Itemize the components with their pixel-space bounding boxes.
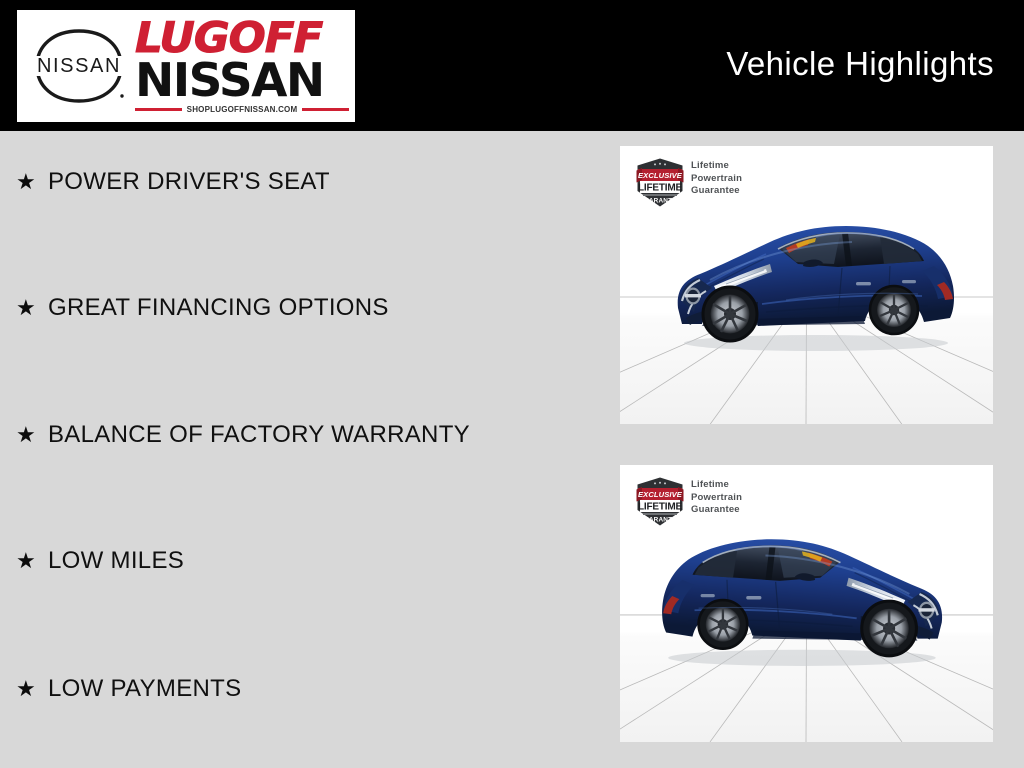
vehicle-photo-1[interactable]: EXCLUSIVELIFETIMEGUARANTEELifetimePowert… <box>620 146 993 424</box>
vehicle-photo-2[interactable]: EXCLUSIVELIFETIMEGUARANTEELifetimePowert… <box>620 465 993 742</box>
star-bullet-icon: ★ <box>16 550 38 572</box>
rule-right <box>302 108 349 111</box>
highlight-item: ★LOW PAYMENTS <box>16 672 241 706</box>
highlight-item: ★GREAT FINANCING OPTIONS <box>16 291 389 325</box>
svg-text:EXCLUSIVE: EXCLUSIVE <box>638 171 683 180</box>
highlight-item: ★POWER DRIVER'S SEAT <box>16 165 330 199</box>
lifetime-powertrain-guarantee-badge: EXCLUSIVELIFETIMEGUARANTEELifetimePowert… <box>636 158 742 207</box>
vehicle-highlights-list: ★POWER DRIVER'S SEAT★GREAT FINANCING OPT… <box>0 131 600 768</box>
star-bullet-icon: ★ <box>16 171 38 193</box>
badge-caption-line: Powertrain <box>691 173 742 186</box>
highlight-item-label: BALANCE OF FACTORY WARRANTY <box>48 421 470 449</box>
badge-caption: LifetimePowertrainGuarantee <box>691 158 742 198</box>
vehicle-image <box>666 204 958 354</box>
svg-text:LIFETIME: LIFETIME <box>638 182 682 193</box>
page-title: Vehicle Highlights <box>726 45 994 83</box>
dealer-wordmark: LUGOFF NISSAN SHOPLUGOFFNISSAN.COM <box>135 18 355 114</box>
badge-caption-line: Guarantee <box>691 504 742 517</box>
highlight-item-label: POWER DRIVER'S SEAT <box>48 168 330 196</box>
star-bullet-icon: ★ <box>16 424 38 446</box>
vehicle-image <box>656 517 956 669</box>
rule-left <box>135 108 182 111</box>
badge-caption-line: Powertrain <box>691 492 742 505</box>
badge-caption-line: Lifetime <box>691 479 742 492</box>
badge-caption-line: Guarantee <box>691 185 742 198</box>
exclusive-lifetime-guarantee-shield-icon: EXCLUSIVELIFETIMEGUARANTEE <box>636 477 684 526</box>
svg-text:NISSAN: NISSAN <box>37 55 121 77</box>
svg-text:EXCLUSIVE: EXCLUSIVE <box>638 490 683 499</box>
badge-caption: LifetimePowertrainGuarantee <box>691 477 742 517</box>
svg-text:GUARANTEE: GUARANTEE <box>639 197 682 204</box>
star-bullet-icon: ★ <box>16 297 38 319</box>
lifetime-powertrain-guarantee-badge: EXCLUSIVELIFETIMEGUARANTEELifetimePowert… <box>636 477 742 526</box>
highlight-item-label: LOW MILES <box>48 547 184 575</box>
dealer-logo[interactable]: NISSAN LUGOFF NISSAN SHOPLUGOFFNISSAN.CO… <box>17 10 355 122</box>
nissan-brand-mark-icon: NISSAN <box>25 23 133 109</box>
svg-text:GUARANTEE: GUARANTEE <box>639 516 682 523</box>
dealer-name-nissan: NISSAN <box>135 58 353 102</box>
svg-text:LIFETIME: LIFETIME <box>638 501 682 512</box>
highlight-item: ★BALANCE OF FACTORY WARRANTY <box>16 418 470 452</box>
page-header: NISSAN LUGOFF NISSAN SHOPLUGOFFNISSAN.CO… <box>0 0 1024 131</box>
star-bullet-icon: ★ <box>16 678 38 700</box>
highlight-item: ★LOW MILES <box>16 544 184 578</box>
badge-caption-line: Lifetime <box>691 160 742 173</box>
exclusive-lifetime-guarantee-shield-icon: EXCLUSIVELIFETIMEGUARANTEE <box>636 158 684 207</box>
highlight-item-label: LOW PAYMENTS <box>48 675 241 703</box>
highlight-item-label: GREAT FINANCING OPTIONS <box>48 294 389 322</box>
dealer-name-lugoff: LUGOFF <box>135 18 358 58</box>
